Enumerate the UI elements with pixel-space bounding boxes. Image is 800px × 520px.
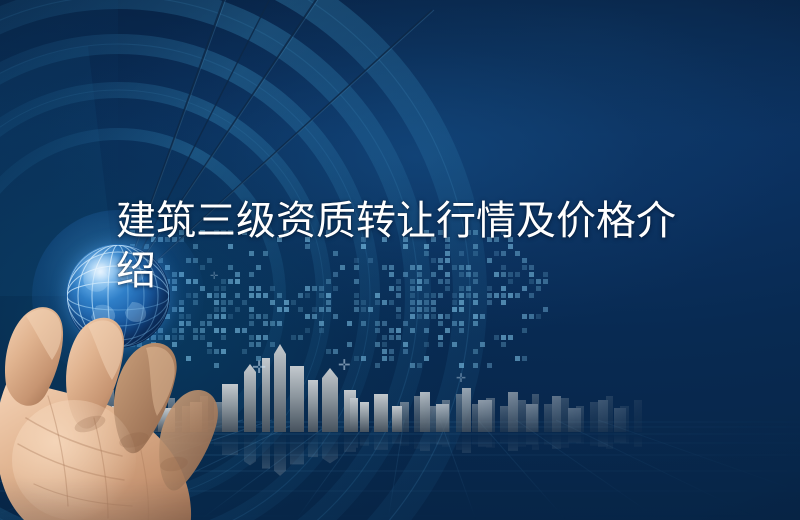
plus-sparkle: ✛ <box>338 358 351 373</box>
banner-image: ✛ ✛ ✛ ✛ ✛ <box>0 0 800 520</box>
title-line-1: 建筑三级资质转让行情及价格介 <box>116 196 701 246</box>
plus-sparkle: ✛ <box>456 372 466 384</box>
open-hand-holding-globe <box>0 288 282 520</box>
title-line-2: 绍 <box>116 246 701 296</box>
page-title: 建筑三级资质转让行情及价格介 绍 <box>116 196 701 296</box>
